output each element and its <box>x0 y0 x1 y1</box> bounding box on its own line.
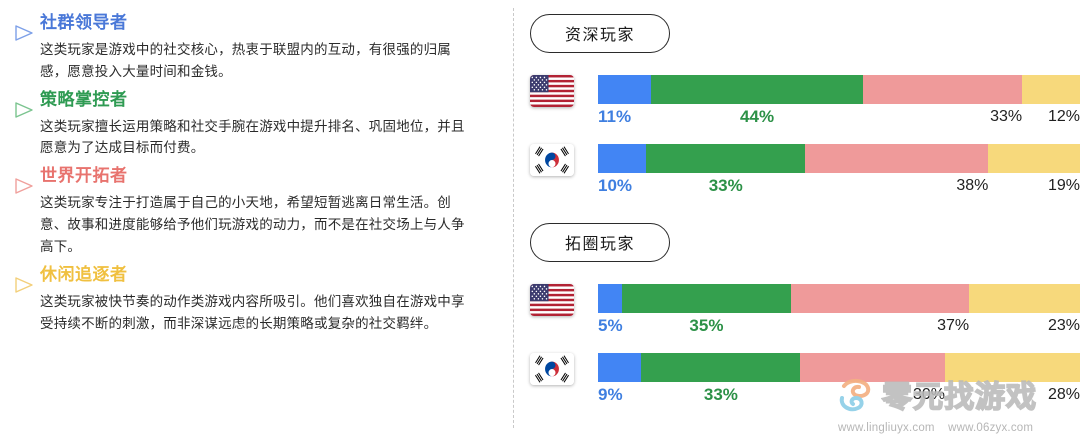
bar-segment-community <box>598 144 646 173</box>
bar-segment-strategy <box>651 75 863 104</box>
chart-group-1: 拓圈玩家 <box>530 223 1080 406</box>
persona-description: 这类玩家是游戏中的社交核心，热衷于联盟内的互动，有很强的归属感，愿意投入大量时间… <box>40 39 470 83</box>
stacked-bar-track <box>598 353 1080 382</box>
bar-value-labels: 5% 35% 37% 23% <box>598 315 1080 337</box>
bar-label-casual: 28% <box>945 384 1080 406</box>
bar-segment-community <box>598 75 651 104</box>
persona-item-2: 世界开拓者 这类玩家专注于打造属于自己的小天地，希望短暂逃离日常生活。创意、故事… <box>0 165 500 258</box>
bar-segment-community <box>598 353 641 382</box>
bar-segment-casual <box>969 284 1080 313</box>
bar-segment-explorer <box>863 75 1022 104</box>
bar-segment-casual <box>1022 75 1080 104</box>
infographic-page: 社群领导者 这类玩家是游戏中的社交核心，热衷于联盟内的互动，有很强的归属感，愿意… <box>0 0 1080 436</box>
persona-description: 这类玩家被快节奏的动作类游戏内容所吸引。他们喜欢独自在游戏中享受持续不断的刺激，… <box>40 291 470 335</box>
bar-label-casual: 12% <box>1022 106 1080 128</box>
kr-flag-icon <box>530 144 574 176</box>
bar-and-labels: 11% 44% 33% 12% <box>598 75 1080 128</box>
chart-row: 11% 44% 33% 12% <box>530 75 1080 128</box>
bar-label-strategy: 33% <box>641 384 800 406</box>
chart-row: 10% 33% 38% 19% <box>530 144 1080 197</box>
bar-segment-strategy <box>641 353 800 382</box>
group-label-pill: 拓圈玩家 <box>530 223 670 262</box>
bar-segment-explorer <box>800 353 945 382</box>
bar-label-community: 10% <box>598 175 646 197</box>
stacked-bar-chart: 资深玩家 <box>530 0 1080 436</box>
persona-title: 休闲追逐者 <box>40 264 500 287</box>
bar-label-strategy: 35% <box>622 315 791 337</box>
bar-and-labels: 5% 35% 37% 23% <box>598 284 1080 337</box>
kr-flag-icon <box>530 353 574 385</box>
persona-item-1: 策略掌控者 这类玩家擅长运用策略和社交手腕在游戏中提升排名、巩固地位，并且愿意为… <box>0 89 500 160</box>
bar-label-explorer: 37% <box>791 315 969 337</box>
us-flag-icon <box>530 75 574 107</box>
bar-label-explorer: 38% <box>805 175 988 197</box>
bar-label-community: 9% <box>598 384 641 406</box>
group-label-pill: 资深玩家 <box>530 14 670 53</box>
bar-segment-explorer <box>791 284 969 313</box>
bar-label-casual: 19% <box>988 175 1080 197</box>
bar-segment-community <box>598 284 622 313</box>
bar-value-labels: 11% 44% 33% 12% <box>598 106 1080 128</box>
persona-item-3: 休闲追逐者 这类玩家被快节奏的动作类游戏内容所吸引。他们喜欢独自在游戏中享受持续… <box>0 264 500 335</box>
persona-description: 这类玩家擅长运用策略和社交手腕在游戏中提升排名、巩固地位，并且愿意为了达成目标而… <box>40 116 470 160</box>
bar-label-explorer: 33% <box>863 106 1022 128</box>
stacked-bar-track <box>598 284 1080 313</box>
bar-label-strategy: 44% <box>651 106 863 128</box>
bar-label-community: 11% <box>598 106 651 128</box>
chart-row: 9% 33% 30% 28% <box>530 353 1080 406</box>
panel-divider <box>513 8 514 428</box>
persona-item-0: 社群领导者 这类玩家是游戏中的社交核心，热衷于联盟内的互动，有很强的归属感，愿意… <box>0 12 500 83</box>
bar-and-labels: 9% 33% 30% 28% <box>598 353 1080 406</box>
chart-row: 5% 35% 37% 23% <box>530 284 1080 337</box>
bar-segment-casual <box>945 353 1080 382</box>
bar-label-community: 5% <box>598 315 622 337</box>
chart-group-0: 资深玩家 <box>530 14 1080 197</box>
bar-value-labels: 9% 33% 30% 28% <box>598 384 1080 406</box>
bar-segment-explorer <box>805 144 988 173</box>
bar-segment-casual <box>988 144 1080 173</box>
bar-label-strategy: 33% <box>646 175 805 197</box>
persona-title: 策略掌控者 <box>40 89 500 112</box>
bar-value-labels: 10% 33% 38% 19% <box>598 175 1080 197</box>
persona-title: 社群领导者 <box>40 12 500 35</box>
bar-and-labels: 10% 33% 38% 19% <box>598 144 1080 197</box>
bar-label-casual: 23% <box>969 315 1080 337</box>
us-flag-icon <box>530 284 574 316</box>
stacked-bar-track <box>598 75 1080 104</box>
bar-segment-strategy <box>622 284 791 313</box>
bar-label-explorer: 30% <box>800 384 945 406</box>
persona-description: 这类玩家专注于打造属于自己的小天地，希望短暂逃离日常生活。创意、故事和进度能够给… <box>40 192 470 258</box>
persona-legend-panel: 社群领导者 这类玩家是游戏中的社交核心，热衷于联盟内的互动，有很强的归属感，愿意… <box>0 0 500 436</box>
bar-segment-strategy <box>646 144 805 173</box>
stacked-bar-track <box>598 144 1080 173</box>
persona-title: 世界开拓者 <box>40 165 500 188</box>
